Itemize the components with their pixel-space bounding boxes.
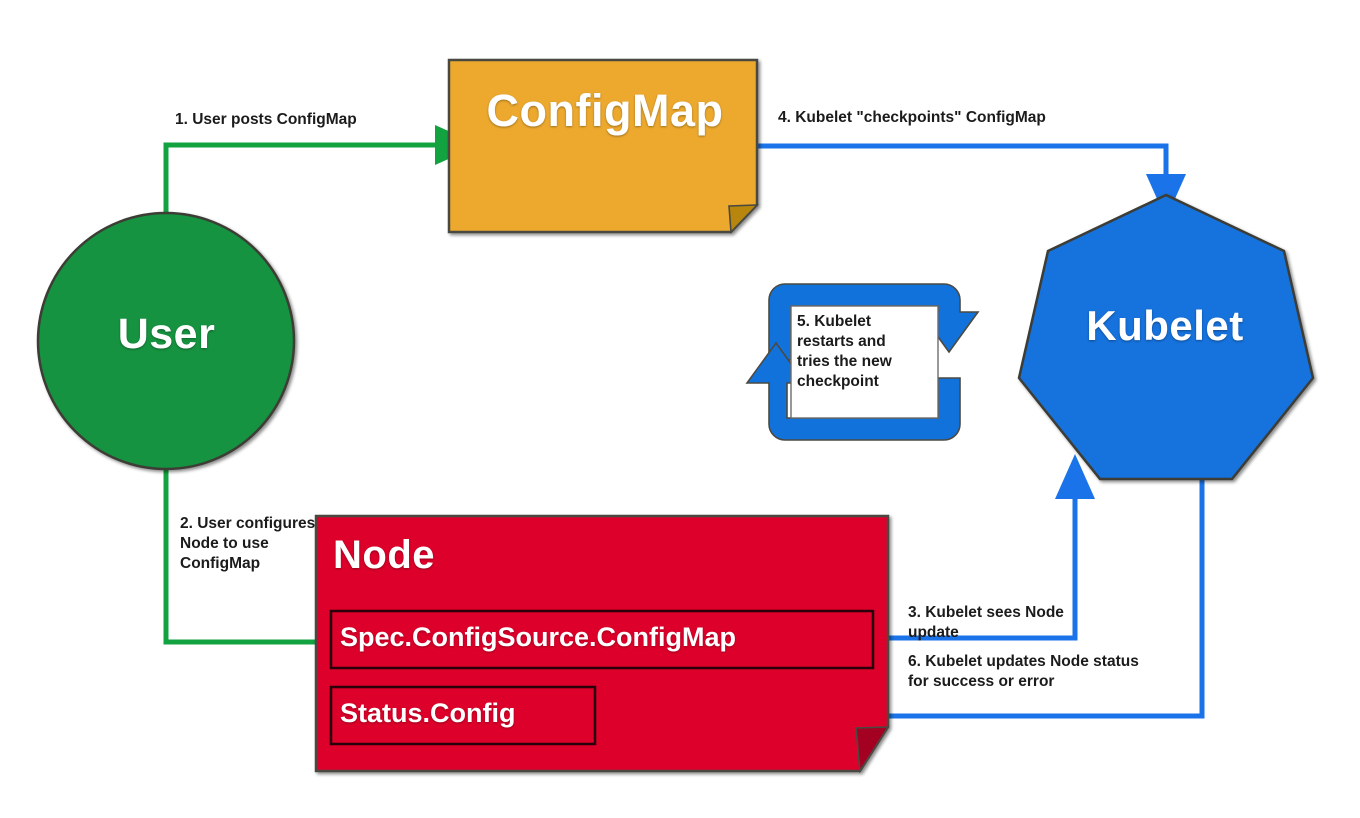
kubelet-node-label: Kubelet: [1020, 302, 1310, 350]
connector-step-4: [757, 146, 1166, 180]
step-6-label: 6. Kubelet updates Node status for succe…: [908, 652, 1158, 692]
diagram-canvas: User ConfigMap Kubelet Node Spec.ConfigS…: [0, 0, 1360, 818]
step-3-label: 3. Kubelet sees Node update: [908, 603, 1083, 643]
field-label-status-config[interactable]: Status.Config: [340, 698, 516, 729]
field-label-spec-configsource-configmap[interactable]: Spec.ConfigSource.ConfigMap: [340, 622, 736, 653]
node-node-label: Node: [333, 533, 435, 578]
step-2-label: 2. User configures Node to use ConfigMap: [180, 514, 320, 574]
step-5-label: 5. Kubelet restarts and tries the new ch…: [797, 312, 907, 392]
configmap-node-label: ConfigMap: [455, 85, 755, 137]
step-1-label: 1. User posts ConfigMap: [175, 110, 357, 130]
step-4-label: 4. Kubelet "checkpoints" ConfigMap: [778, 108, 1046, 128]
user-node-label: User: [38, 310, 295, 359]
